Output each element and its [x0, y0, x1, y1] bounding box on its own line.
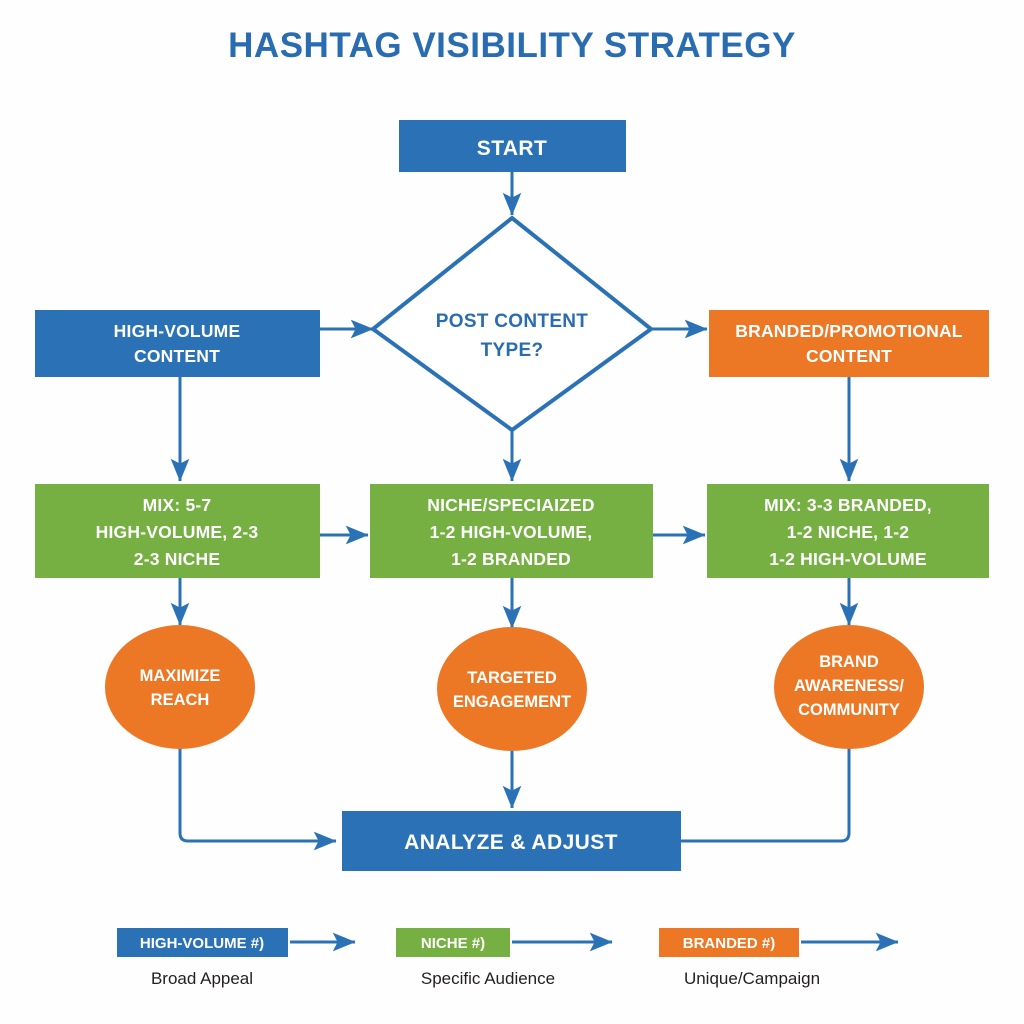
legend-item-high-volume[interactable]: HIGH-VOLUME #) Broad Appeal	[117, 928, 355, 988]
legend-badge-label-niche: NICHE #)	[421, 935, 485, 952]
flowchart-svg: HASHTAG VISIBILITY STRATEGY	[0, 0, 1024, 1024]
legend-item-niche[interactable]: NICHE #) Specific Audience	[396, 928, 612, 988]
node-branded-line1: BRANDED/PROMOTIONAL	[735, 321, 963, 341]
node-high-volume-line1: HIGH-VOLUME	[114, 321, 241, 341]
node-mix-right-line2: 1-2 NICHE, 1-2	[787, 522, 909, 542]
node-decision-line1: POST CONTENT	[436, 311, 589, 332]
node-mix-left-line3: 2-3 NICHE	[134, 549, 220, 569]
node-awareness-line2: AWARENESS/	[794, 677, 904, 695]
legend-item-branded[interactable]: BRANDED #) Unique/Campaign	[659, 928, 898, 988]
node-mix-mid[interactable]: NICHE/SPECIAIZED 1-2 HIGH-VOLUME, 1-2 BR…	[370, 484, 653, 578]
flowchart-canvas: HASHTAG VISIBILITY STRATEGY	[0, 0, 1024, 1024]
node-maximize-reach[interactable]: MAXIMIZE REACH	[105, 625, 255, 749]
node-mix-left-line2: HIGH-VOLUME, 2-3	[96, 522, 259, 542]
legend: HIGH-VOLUME #) Broad Appeal NICHE #) Spe…	[117, 928, 898, 988]
legend-caption-niche: Specific Audience	[421, 969, 555, 988]
node-analyze-adjust[interactable]: ANALYZE & ADJUST	[342, 811, 681, 871]
node-maximize-line1: MAXIMIZE	[140, 667, 221, 685]
legend-caption-high-volume: Broad Appeal	[151, 969, 253, 988]
node-start[interactable]: START	[399, 120, 626, 172]
node-mix-right[interactable]: MIX: 3-3 BRANDED, 1-2 NICHE, 1-2 1-2 HIG…	[707, 484, 989, 578]
node-mix-mid-line2: 1-2 HIGH-VOLUME,	[430, 522, 593, 542]
node-targeted-line1: TARGETED	[467, 669, 557, 687]
edge-awareness-to-analyze	[681, 748, 849, 841]
node-decision-line2: TYPE?	[481, 340, 544, 361]
node-mix-mid-line3: 1-2 BRANDED	[451, 549, 571, 569]
node-maximize-line2: REACH	[151, 691, 210, 709]
page-title: HASHTAG VISIBILITY STRATEGY	[228, 26, 796, 65]
node-start-label: START	[477, 137, 547, 160]
edge-maximize-to-analyze	[180, 748, 336, 841]
node-brand-awareness-community[interactable]: BRAND AWARENESS/ COMMUNITY	[774, 625, 924, 749]
node-mix-left[interactable]: MIX: 5-7 HIGH-VOLUME, 2-3 2-3 NICHE	[35, 484, 320, 578]
node-awareness-line1: BRAND	[819, 653, 879, 671]
legend-caption-branded: Unique/Campaign	[684, 969, 820, 988]
node-decision[interactable]: POST CONTENT TYPE?	[373, 218, 651, 430]
node-maximize-shape	[105, 625, 255, 749]
node-analyze-label: ANALYZE & ADJUST	[404, 831, 618, 854]
legend-badge-label-branded: BRANDED #)	[683, 935, 776, 952]
node-mix-mid-line1: NICHE/SPECIAIZED	[427, 495, 595, 515]
node-targeted-engagement[interactable]: TARGETED ENGAGEMENT	[437, 627, 587, 751]
node-high-volume-content[interactable]: HIGH-VOLUME CONTENT	[35, 310, 320, 377]
node-mix-right-line1: MIX: 3-3 BRANDED,	[764, 495, 932, 515]
node-targeted-line2: ENGAGEMENT	[453, 693, 571, 711]
node-mix-left-line1: MIX: 5-7	[143, 495, 212, 515]
node-awareness-line3: COMMUNITY	[798, 701, 900, 719]
legend-badge-label-high-volume: HIGH-VOLUME #)	[140, 935, 264, 952]
node-high-volume-line2: CONTENT	[134, 346, 220, 366]
node-targeted-shape	[437, 627, 587, 751]
node-branded-promotional-content[interactable]: BRANDED/PROMOTIONAL CONTENT	[709, 310, 989, 377]
node-mix-right-line3: 1-2 HIGH-VOLUME	[769, 549, 927, 569]
node-branded-line2: CONTENT	[806, 346, 892, 366]
